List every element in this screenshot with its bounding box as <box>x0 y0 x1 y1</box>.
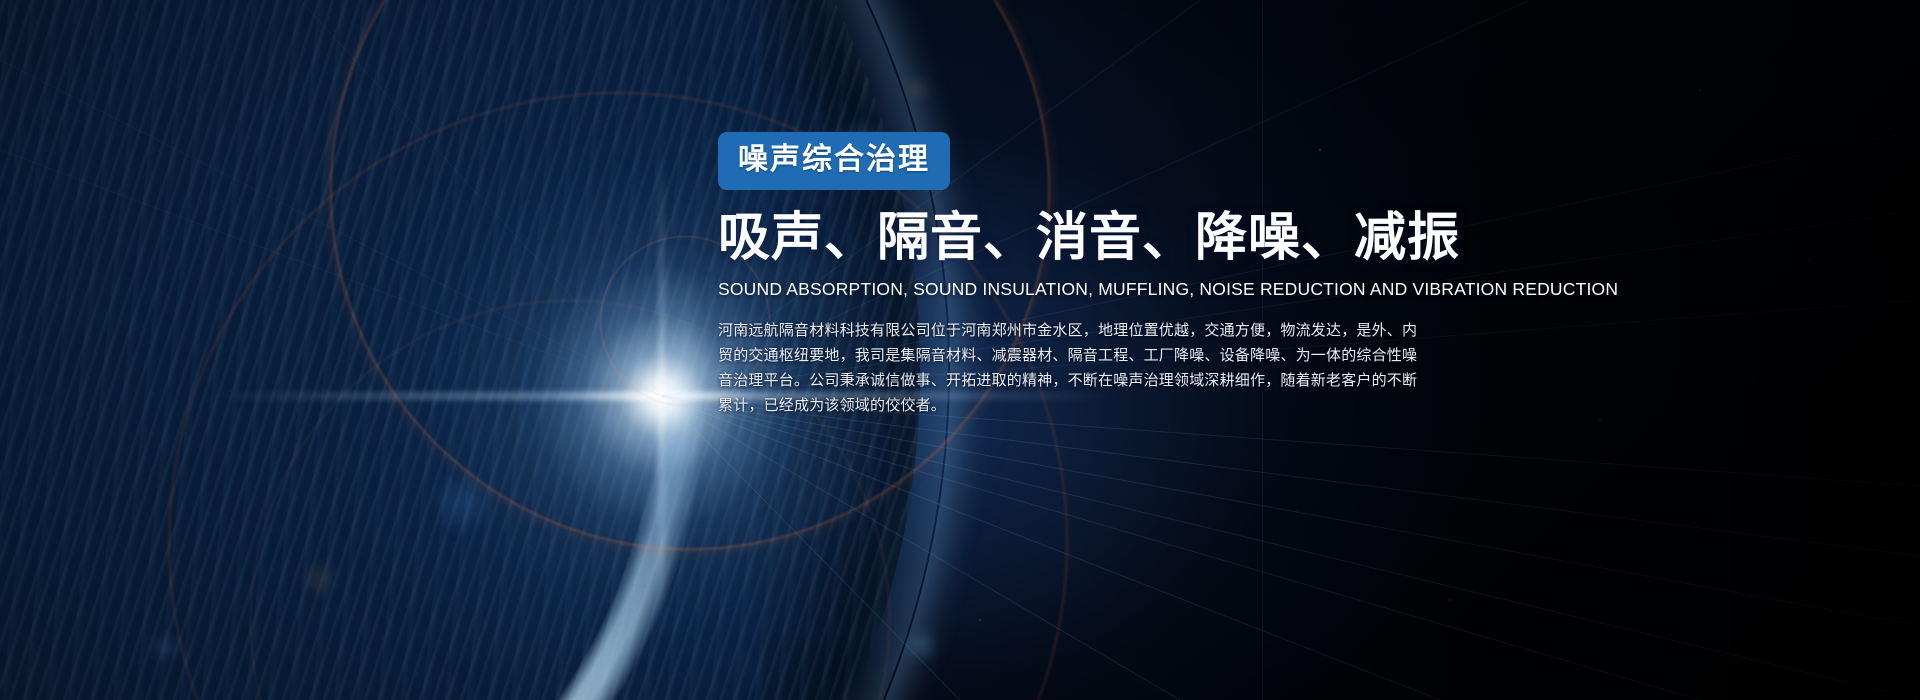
company-description-text: 河南远航隔音材料科技有限公司位于河南郑州市金水区，地理位置优越，交通方便，物流发… <box>718 318 1418 418</box>
hero-headline: 吸声、隔音、消音、降噪、减振 <box>718 211 1498 266</box>
hero-banner: 噪声综合治理 吸声、隔音、消音、降噪、减振 SOUND ABSORPTION, … <box>0 0 1920 700</box>
company-description: 河南远航隔音材料科技有限公司位于河南郑州市金水区，地理位置优越，交通方便，物流发… <box>718 318 1418 418</box>
hero-subheadline-english: SOUND ABSORPTION, SOUND INSULATION, MUFF… <box>718 279 1498 300</box>
category-badge: 噪声综合治理 <box>718 132 950 190</box>
hero-content: 噪声综合治理 吸声、隔音、消音、降噪、减振 SOUND ABSORPTION, … <box>718 132 1498 418</box>
